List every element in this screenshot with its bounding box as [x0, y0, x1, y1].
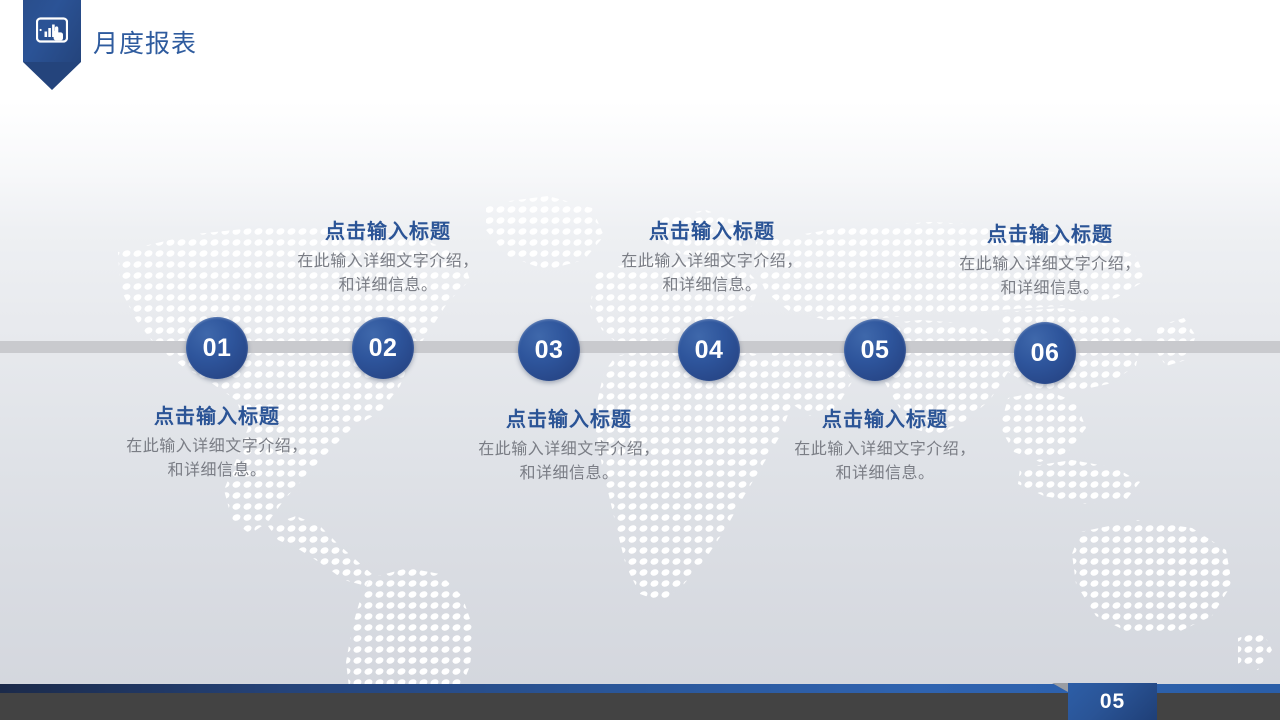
- page-badge-notch: [1052, 683, 1068, 692]
- milestone-body-line2: 和详细信息。: [268, 274, 508, 298]
- milestone-body-line2: 和详细信息。: [765, 462, 1005, 486]
- milestone-body-line1: 在此输入详细文字介绍，: [592, 250, 832, 274]
- milestone-body-line2: 和详细信息。: [449, 462, 689, 486]
- milestone-title: 点击输入标题: [930, 223, 1170, 248]
- page-number-badge: 05: [1068, 683, 1157, 720]
- milestone-text-04[interactable]: 点击输入标题 在此输入详细文字介绍， 和详细信息。: [592, 220, 832, 298]
- milestone-title: 点击输入标题: [592, 220, 832, 245]
- milestone-title: 点击输入标题: [97, 405, 337, 430]
- milestone-body-line2: 和详细信息。: [97, 459, 337, 483]
- milestone-text-03[interactable]: 点击输入标题 在此输入详细文字介绍， 和详细信息。: [449, 408, 689, 486]
- milestone-body: 在此输入详细文字介绍， 和详细信息。: [268, 250, 508, 298]
- milestone-body-line1: 在此输入详细文字介绍，: [268, 250, 508, 274]
- milestone-body: 在此输入详细文字介绍， 和详细信息。: [592, 250, 832, 298]
- timeline-node-05[interactable]: 05: [844, 319, 906, 381]
- tablet-chart-touch-icon: [36, 17, 68, 43]
- milestone-text-05[interactable]: 点击输入标题 在此输入详细文字介绍， 和详细信息。: [765, 408, 1005, 486]
- milestone-text-02[interactable]: 点击输入标题 在此输入详细文字介绍， 和详细信息。: [268, 220, 508, 298]
- timeline-node-06[interactable]: 06: [1014, 322, 1076, 384]
- milestone-body-line1: 在此输入详细文字介绍，: [765, 438, 1005, 462]
- milestone-text-06[interactable]: 点击输入标题 在此输入详细文字介绍， 和详细信息。: [930, 223, 1170, 301]
- milestone-body-line1: 在此输入详细文字介绍，: [930, 253, 1170, 277]
- timeline-node-04[interactable]: 04: [678, 319, 740, 381]
- milestone-body-line1: 在此输入详细文字介绍，: [97, 435, 337, 459]
- timeline-node-01[interactable]: 01: [186, 317, 248, 379]
- milestone-body-line2: 和详细信息。: [930, 277, 1170, 301]
- timeline-node-03[interactable]: 03: [518, 319, 580, 381]
- milestone-body-line1: 在此输入详细文字介绍，: [449, 438, 689, 462]
- timeline-node-02[interactable]: 02: [352, 317, 414, 379]
- milestone-body-line2: 和详细信息。: [592, 274, 832, 298]
- slide-canvas: 月度报表 点击输入标题 在此输入详细文字介绍， 和详细信息。 点击输入标题 在此…: [0, 0, 1280, 720]
- milestone-text-01[interactable]: 点击输入标题 在此输入详细文字介绍， 和详细信息。: [97, 405, 337, 483]
- milestone-title: 点击输入标题: [268, 220, 508, 245]
- ribbon-tip: [23, 62, 81, 90]
- page-title: 月度报表: [93, 24, 197, 60]
- milestone-body: 在此输入详细文字介绍， 和详细信息。: [930, 253, 1170, 301]
- header-ribbon: [23, 0, 81, 90]
- milestone-body: 在此输入详细文字介绍， 和详细信息。: [765, 438, 1005, 486]
- milestone-title: 点击输入标题: [765, 408, 1005, 433]
- milestone-body: 在此输入详细文字介绍， 和详细信息。: [97, 435, 337, 483]
- milestone-body: 在此输入详细文字介绍， 和详细信息。: [449, 438, 689, 486]
- milestone-title: 点击输入标题: [449, 408, 689, 433]
